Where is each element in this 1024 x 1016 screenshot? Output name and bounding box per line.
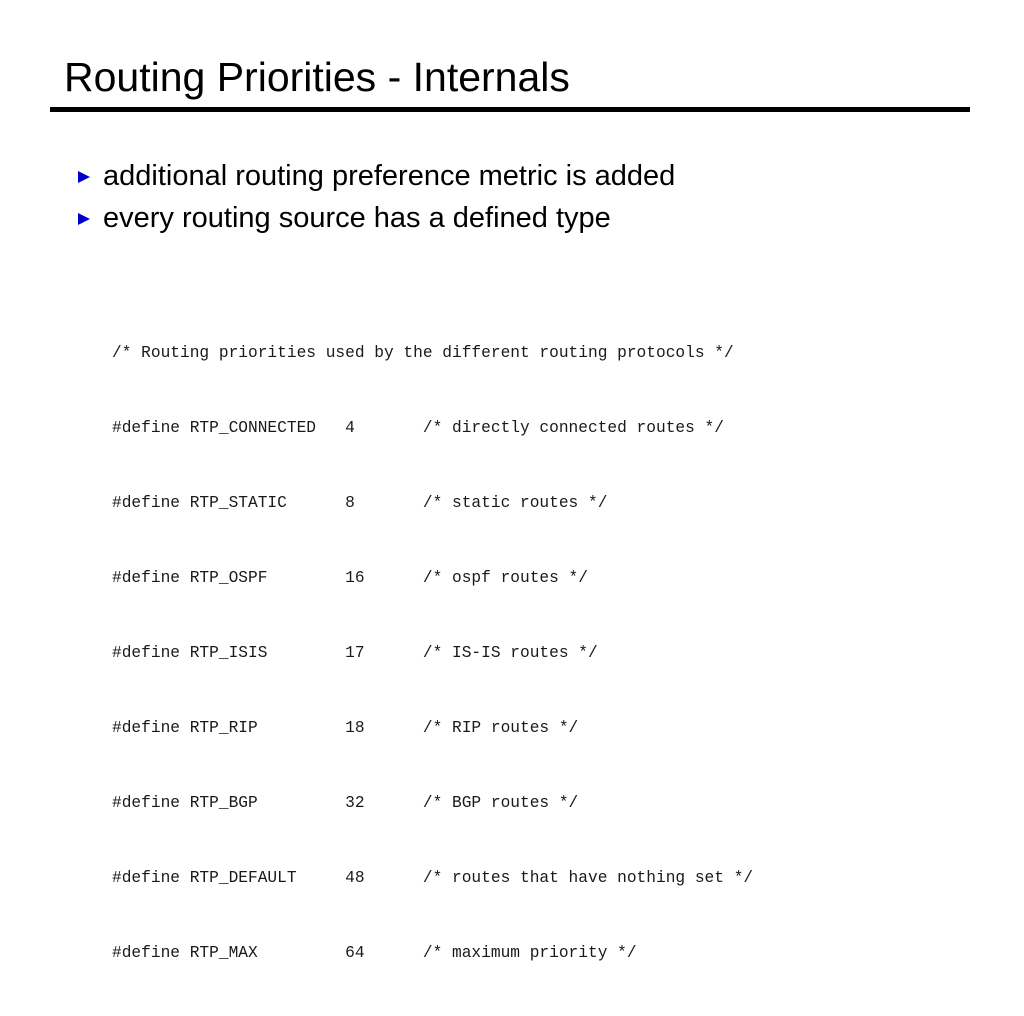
triangle-right-bullet-icon: [76, 169, 92, 185]
title-underline-rule: [50, 107, 970, 112]
code-line: #define RTP_MAX 64 /* maximum priority *…: [112, 941, 753, 966]
code-line: /* Routing priorities used by the differ…: [112, 341, 753, 366]
bullet-list: additional routing preference metric is …: [76, 156, 956, 240]
list-item-label: every routing source has a defined type: [103, 198, 611, 238]
slide-header: Routing Priorities - Internals: [50, 52, 970, 112]
code-line: #define RTP_RIP 18 /* RIP routes */: [112, 716, 753, 741]
code-line: #define RTP_DEFAULT 48 /* routes that ha…: [112, 866, 753, 891]
triangle-right-bullet-icon: [76, 211, 92, 227]
code-line: #define RTP_ISIS 17 /* IS-IS routes */: [112, 641, 753, 666]
code-line: #define RTP_OSPF 16 /* ospf routes */: [112, 566, 753, 591]
slide-canvas: Routing Priorities - Internals additiona…: [0, 0, 1024, 768]
code-block: /* Routing priorities used by the differ…: [112, 291, 753, 1016]
page-title: Routing Priorities - Internals: [50, 52, 970, 102]
code-line: #define RTP_BGP 32 /* BGP routes */: [112, 791, 753, 816]
list-item: every routing source has a defined type: [76, 198, 956, 240]
code-line: #define RTP_STATIC 8 /* static routes */: [112, 491, 753, 516]
list-item: additional routing preference metric is …: [76, 156, 956, 198]
code-line: #define RTP_CONNECTED 4 /* directly conn…: [112, 416, 753, 441]
list-item-label: additional routing preference metric is …: [103, 156, 675, 196]
